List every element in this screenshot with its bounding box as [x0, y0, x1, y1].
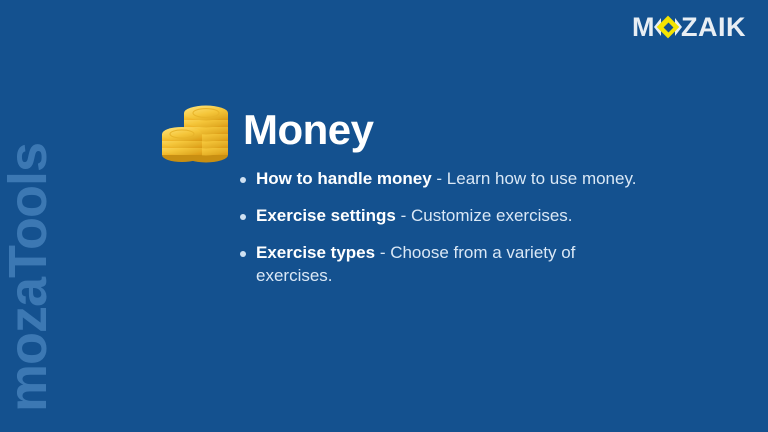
- list-item-text: How to handle money - Learn how to use m…: [256, 168, 640, 191]
- logo-diamond-icon: [656, 15, 680, 39]
- page-title: Money: [243, 108, 374, 152]
- list-item-description: Learn how to use money.: [447, 169, 637, 188]
- coin-stack-icon: [160, 100, 232, 166]
- list-item-text: Exercise settings - Customize exercises.: [256, 205, 640, 228]
- list-item-label: Exercise settings: [256, 206, 396, 225]
- bullet-dot-icon: [240, 251, 246, 257]
- list-item-description: Customize exercises.: [411, 206, 573, 225]
- list-item-separator: -: [396, 206, 411, 225]
- bullet-dot-icon: [240, 214, 246, 220]
- list-item-label: How to handle money: [256, 169, 432, 188]
- mozaik-logo[interactable]: M ZAIK: [632, 13, 746, 41]
- list-item-separator: -: [432, 169, 447, 188]
- logo-letter-m: M: [632, 14, 655, 41]
- list-item-label: Exercise types: [256, 243, 375, 262]
- watermark: mozaTools: [0, 0, 56, 432]
- list-item-text: Exercise types - Choose from a variety o…: [256, 242, 640, 288]
- watermark-label: mozaTools: [1, 143, 55, 432]
- slide-canvas: mozaTools M ZAIK: [0, 0, 768, 432]
- list-item: How to handle money - Learn how to use m…: [240, 168, 640, 191]
- list-item: Exercise settings - Customize exercises.: [240, 205, 640, 228]
- list-item: Exercise types - Choose from a variety o…: [240, 242, 640, 288]
- logo-letters-zaik: ZAIK: [681, 14, 746, 41]
- bullet-dot-icon: [240, 177, 246, 183]
- feature-list: How to handle money - Learn how to use m…: [240, 168, 640, 288]
- list-item-separator: -: [375, 243, 390, 262]
